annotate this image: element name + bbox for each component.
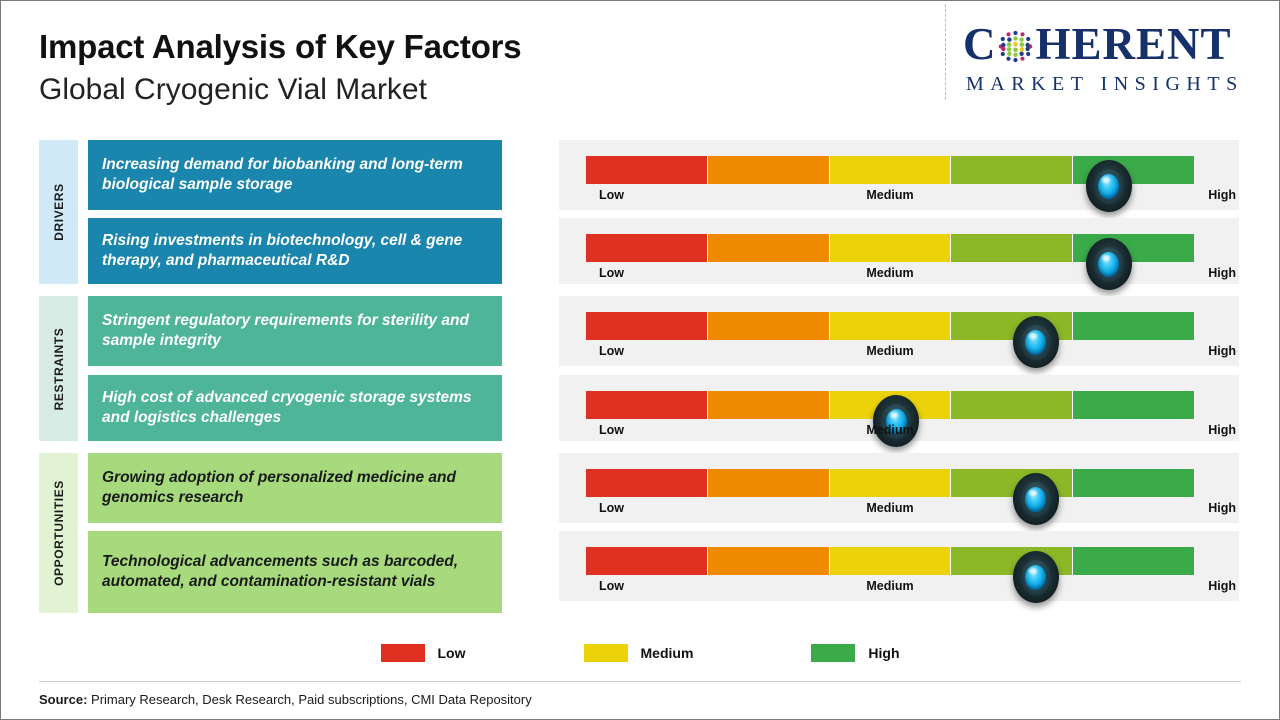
gauge-segment-4 xyxy=(950,391,1072,419)
legend: Low Medium High xyxy=(0,644,1280,662)
gauge-label-high: High xyxy=(1208,501,1236,515)
gauge-label-medium: Medium xyxy=(866,188,913,202)
gauge-panel: Low Medium High xyxy=(559,140,1239,210)
header: Impact Analysis of Key Factors Global Cr… xyxy=(0,0,1280,132)
gauge-label-high: High xyxy=(1208,266,1236,280)
gauge-segment-3 xyxy=(829,234,951,262)
gauge-label-high: High xyxy=(1208,188,1236,202)
factor-row: Rising investments in biotechnology, cel… xyxy=(88,218,1239,284)
gauge-segment-2 xyxy=(707,391,829,419)
legend-item-low: Low xyxy=(381,644,466,662)
gauge-scale-labels: Low Medium High xyxy=(586,501,1194,523)
factor-label: Technological advancements such as barco… xyxy=(102,552,488,592)
category-label-drivers: DRIVERS xyxy=(52,183,66,241)
gauge-bar xyxy=(586,156,1194,184)
logo-wordmark: C xyxy=(963,22,1263,67)
gauge-scale-labels: Low Medium High xyxy=(586,266,1194,288)
gauge-label-low: Low xyxy=(599,579,624,593)
logo-wordmark-rest: HERENT xyxy=(1036,22,1232,67)
gauge-scale-labels: Low Medium High xyxy=(586,188,1194,210)
gauge-label-low: Low xyxy=(599,501,624,515)
gauge-panel: Low Medium High xyxy=(559,531,1239,601)
gauge-segment-1 xyxy=(586,469,707,497)
gauge-label-high: High xyxy=(1208,579,1236,593)
gauge-segment-2 xyxy=(707,312,829,340)
title-block: Impact Analysis of Key Factors Global Cr… xyxy=(39,28,521,108)
gauge-label-medium: Medium xyxy=(866,579,913,593)
gauge-segment-2 xyxy=(707,469,829,497)
gauge-label-low: Low xyxy=(599,266,624,280)
group-drivers: DRIVERS Increasing demand for biobanking… xyxy=(39,140,1239,284)
gauge-panel: Low Medium High xyxy=(559,375,1239,441)
factor-text-box: Stringent regulatory requirements for st… xyxy=(88,296,502,366)
legend-label-medium: Medium xyxy=(641,645,694,661)
brand-logo: C xyxy=(963,22,1263,96)
legend-label-high: High xyxy=(868,645,899,661)
category-label-opportunities: OPPORTUNITIES xyxy=(52,480,66,586)
legend-swatch-medium xyxy=(584,644,628,662)
gauge-label-medium: Medium xyxy=(866,501,913,515)
factor-label: Growing adoption of personalized medicin… xyxy=(102,468,488,508)
gauge-bar xyxy=(586,391,1194,419)
factor-text-box: Rising investments in biotechnology, cel… xyxy=(88,218,502,284)
category-tab-drivers: DRIVERS xyxy=(39,140,78,284)
legend-item-medium: Medium xyxy=(584,644,694,662)
factor-row: Increasing demand for biobanking and lon… xyxy=(88,140,1239,210)
gauge-label-high: High xyxy=(1208,423,1236,437)
page-title: Impact Analysis of Key Factors xyxy=(39,28,521,66)
gauge-bar xyxy=(586,469,1194,497)
logo-divider xyxy=(945,4,946,100)
factor-row: High cost of advanced cryogenic storage … xyxy=(88,375,1239,441)
gauge-label-low: Low xyxy=(599,344,624,358)
factor-text-box: Growing adoption of personalized medicin… xyxy=(88,453,502,523)
gauge-panel: Low Medium High xyxy=(559,218,1239,284)
group-restraints: RESTRAINTS Stringent regulatory requirem… xyxy=(39,296,1239,441)
logo-tagline: MARKET INSIGHTS xyxy=(963,73,1263,96)
source-text: Primary Research, Desk Research, Paid su… xyxy=(87,692,531,707)
footer-divider xyxy=(39,681,1241,682)
gauge-label-medium: Medium xyxy=(866,266,913,280)
legend-label-low: Low xyxy=(438,645,466,661)
gauge-segment-1 xyxy=(586,234,707,262)
gauge-segment-3 xyxy=(829,469,951,497)
source-label: Source: xyxy=(39,692,87,707)
gauge-segment-2 xyxy=(707,156,829,184)
category-tab-restraints: RESTRAINTS xyxy=(39,296,78,441)
gauge-segment-5 xyxy=(1072,391,1194,419)
factor-label: Rising investments in biotechnology, cel… xyxy=(102,231,488,271)
gauge-segment-1 xyxy=(586,547,707,575)
gauge-segment-2 xyxy=(707,547,829,575)
gauge-scale-labels: Low Medium High xyxy=(586,423,1194,445)
gauge-bar xyxy=(586,547,1194,575)
factor-text-box: High cost of advanced cryogenic storage … xyxy=(88,375,502,441)
gauge-segment-5 xyxy=(1072,469,1194,497)
gauge-segment-3 xyxy=(829,547,951,575)
dotted-sphere-icon xyxy=(997,28,1034,65)
gauge-label-low: Low xyxy=(599,188,624,202)
gauge-bar xyxy=(586,234,1194,262)
gauge-segment-2 xyxy=(707,234,829,262)
gauge-segment-1 xyxy=(586,156,707,184)
gauge-bar xyxy=(586,312,1194,340)
gauge-segment-5 xyxy=(1072,547,1194,575)
gauge-scale-labels: Low Medium High xyxy=(586,579,1194,601)
group-opportunities: OPPORTUNITIES Growing adoption of person… xyxy=(39,453,1239,613)
factor-label: High cost of advanced cryogenic storage … xyxy=(102,388,488,428)
factor-label: Increasing demand for biobanking and lon… xyxy=(102,155,488,195)
gauge-segment-4 xyxy=(950,234,1072,262)
gauge-segment-5 xyxy=(1072,312,1194,340)
legend-swatch-high xyxy=(811,644,855,662)
gauge-segment-1 xyxy=(586,312,707,340)
legend-swatch-low xyxy=(381,644,425,662)
legend-item-high: High xyxy=(811,644,899,662)
factor-text-box: Technological advancements such as barco… xyxy=(88,531,502,613)
gauge-label-high: High xyxy=(1208,344,1236,358)
gauge-panel: Low Medium High xyxy=(559,453,1239,523)
gauge-segment-3 xyxy=(829,156,951,184)
gauge-segment-1 xyxy=(586,391,707,419)
factor-row: Technological advancements such as barco… xyxy=(88,531,1239,613)
factor-text-box: Increasing demand for biobanking and lon… xyxy=(88,140,502,210)
gauge-segment-3 xyxy=(829,312,951,340)
factor-row: Stringent regulatory requirements for st… xyxy=(88,296,1239,366)
gauge-label-medium: Medium xyxy=(866,423,913,437)
gauge-panel: Low Medium High xyxy=(559,296,1239,366)
category-tab-opportunities: OPPORTUNITIES xyxy=(39,453,78,613)
factor-label: Stringent regulatory requirements for st… xyxy=(102,311,488,351)
category-label-restraints: RESTRAINTS xyxy=(52,327,66,410)
logo-letter-c: C xyxy=(963,22,997,67)
gauge-segment-4 xyxy=(950,156,1072,184)
page-subtitle: Global Cryogenic Vial Market xyxy=(39,72,521,108)
source-note: Source: Primary Research, Desk Research,… xyxy=(39,692,532,707)
gauge-label-low: Low xyxy=(599,423,624,437)
factor-row: Growing adoption of personalized medicin… xyxy=(88,453,1239,523)
gauge-scale-labels: Low Medium High xyxy=(586,344,1194,366)
gauge-label-medium: Medium xyxy=(866,344,913,358)
